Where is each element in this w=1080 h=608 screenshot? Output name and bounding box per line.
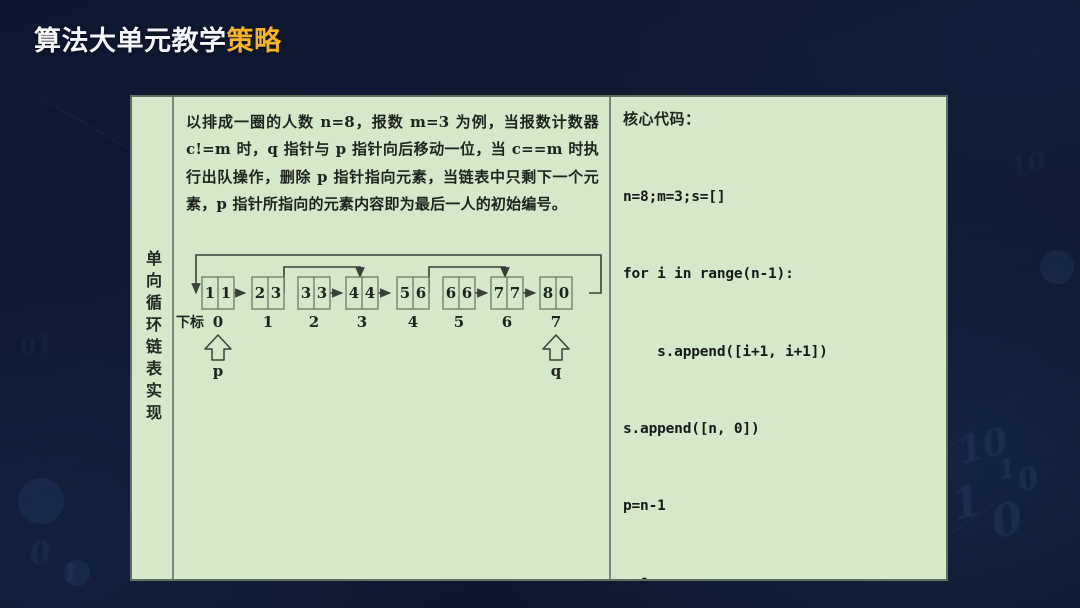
node-next: 7 bbox=[510, 284, 520, 302]
page-title-main: 算法大单元教学 bbox=[34, 26, 227, 56]
index-numbers: 0 1 2 3 4 5 6 7 bbox=[213, 313, 561, 331]
background-dot bbox=[64, 560, 90, 586]
node-data: 7 bbox=[494, 284, 504, 302]
explanation-text: 以排成一圈的人数 n=8，报数 m=3 为例，当报数计数器 c!=m 时，q 指… bbox=[186, 109, 599, 218]
code-title: 核心代码： bbox=[623, 108, 938, 131]
background-dot bbox=[1040, 250, 1074, 284]
node-data: 8 bbox=[543, 284, 553, 302]
code-line: for i in range(n-1): bbox=[623, 262, 938, 288]
explanation-cell: 以排成一圈的人数 n=8，报数 m=3 为例，当报数计数器 c!=m 时，q 指… bbox=[174, 97, 611, 579]
code-line: n=8;m=3;s=[] bbox=[623, 185, 938, 211]
pointer-q-arrow-icon bbox=[543, 335, 569, 360]
index-axis-label: 下标 bbox=[176, 314, 204, 331]
node-data: 3 bbox=[301, 284, 311, 302]
node-data: 2 bbox=[255, 284, 265, 302]
svg-text:7: 7 bbox=[551, 313, 561, 331]
svg-text:4: 4 bbox=[408, 313, 418, 331]
pointer-p-arrow-icon bbox=[205, 335, 231, 360]
svg-text:0: 0 bbox=[213, 313, 223, 331]
code-block: n=8;m=3;s=[] for i in range(n-1): s.appe… bbox=[623, 133, 938, 579]
node-next: 6 bbox=[416, 284, 426, 302]
svg-text:3: 3 bbox=[357, 313, 367, 331]
code-line: s.append([i+1, i+1]) bbox=[623, 340, 938, 366]
code-cell: 核心代码： n=8;m=3;s=[] for i in range(n-1): … bbox=[611, 97, 946, 579]
node-next: 0 bbox=[559, 284, 569, 302]
vertical-label-cell: 单向循环链表实现 bbox=[132, 97, 174, 579]
vertical-label-text: 单向循环链表实现 bbox=[144, 250, 160, 426]
svg-text:5: 5 bbox=[454, 313, 464, 331]
code-line: p=n-1 bbox=[623, 494, 938, 520]
code-line: s.append([n, 0]) bbox=[623, 417, 938, 443]
node-next: 3 bbox=[317, 284, 327, 302]
linked-list-diagram: 11 23 33 bbox=[174, 249, 611, 379]
page-title: 算法大单元教学策略 bbox=[34, 27, 282, 57]
node-next: 4 bbox=[365, 284, 375, 302]
content-table: 单向循环链表实现 以排成一圈的人数 n=8，报数 m=3 为例，当报数计数器 c… bbox=[130, 95, 948, 581]
node-next: 6 bbox=[462, 284, 472, 302]
node-next: 1 bbox=[221, 284, 231, 302]
code-line: c=0 bbox=[623, 572, 938, 579]
background-dot bbox=[18, 478, 64, 524]
node-data: 4 bbox=[349, 284, 359, 302]
svg-text:2: 2 bbox=[309, 313, 319, 331]
node-data: 5 bbox=[400, 284, 410, 302]
page-title-accent: 策略 bbox=[227, 26, 282, 56]
pointer-p-label: p bbox=[213, 362, 224, 379]
node-data: 6 bbox=[446, 284, 456, 302]
svg-text:6: 6 bbox=[502, 313, 512, 331]
node-data: 1 bbox=[205, 284, 215, 302]
pointer-q-label: q bbox=[551, 362, 562, 379]
svg-text:1: 1 bbox=[263, 313, 273, 331]
node-next: 3 bbox=[271, 284, 281, 302]
